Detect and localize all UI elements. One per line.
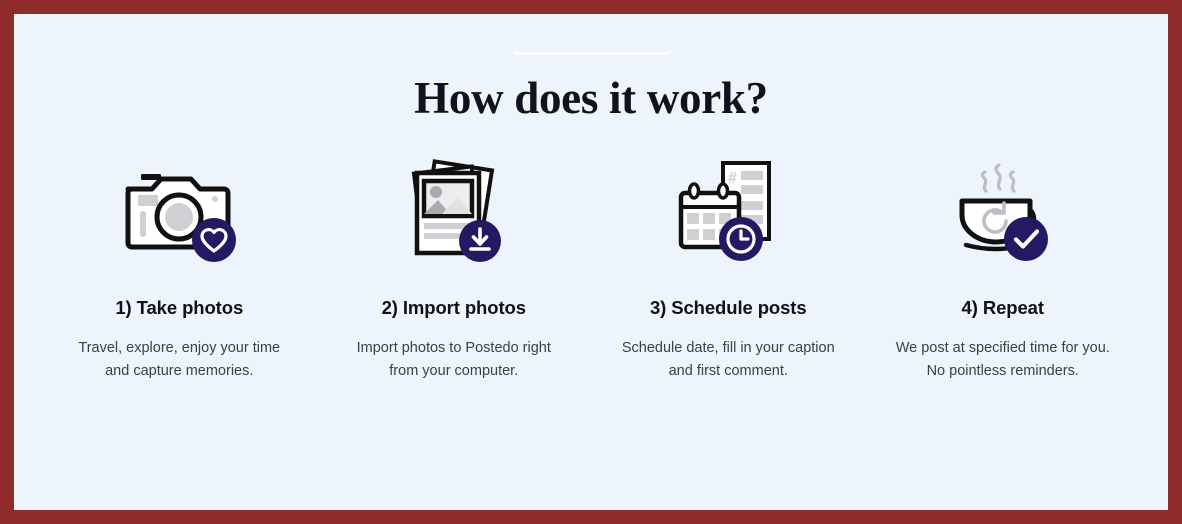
section-divider bbox=[514, 52, 669, 55]
svg-text:#: # bbox=[728, 170, 737, 187]
coffee-cup-check-icon bbox=[938, 157, 1068, 265]
camera-heart-icon bbox=[114, 157, 244, 265]
step-title: 3) Schedule posts bbox=[650, 297, 807, 319]
step-description: Travel, explore, enjoy your time and cap… bbox=[72, 337, 287, 383]
page-title: How does it work? bbox=[14, 75, 1168, 122]
steps-grid: 1) Take photos Travel, explore, enjoy yo… bbox=[14, 157, 1168, 383]
step-title: 1) Take photos bbox=[115, 297, 243, 319]
photo-stack-download-icon bbox=[389, 157, 519, 265]
page-frame: How does it work? bbox=[14, 14, 1168, 510]
step-item-schedule-posts: # # bbox=[591, 157, 866, 383]
step-item-import-photos: 2) Import photos Import photos to Posted… bbox=[317, 157, 592, 383]
step-item-take-photos: 1) Take photos Travel, explore, enjoy yo… bbox=[42, 157, 317, 383]
calendar-clock-icon: # # bbox=[663, 157, 793, 265]
step-description: Schedule date, fill in your caption and … bbox=[621, 337, 836, 383]
step-description: Import photos to Postedo right from your… bbox=[346, 337, 561, 383]
step-title: 2) Import photos bbox=[382, 297, 526, 319]
step-description: We post at specified time for you. No po… bbox=[895, 337, 1110, 383]
step-title: 4) Repeat bbox=[962, 297, 1044, 319]
step-item-repeat: 4) Repeat We post at specified time for … bbox=[866, 157, 1141, 383]
